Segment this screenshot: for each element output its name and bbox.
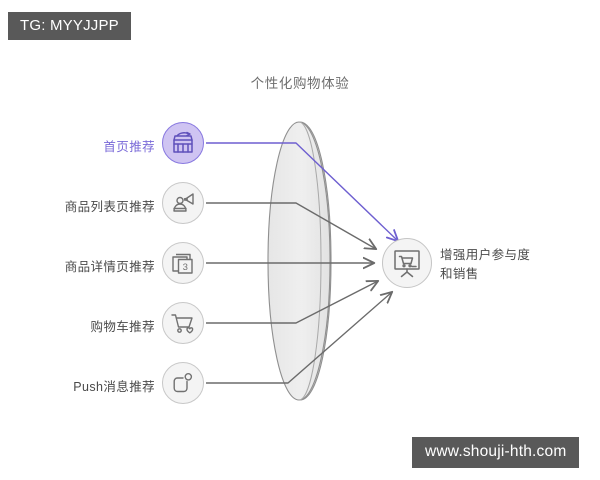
storefront-icon xyxy=(163,123,203,163)
source-node-4[interactable] xyxy=(162,302,204,344)
source-label-1: 首页推荐 xyxy=(55,136,155,155)
push-notification-icon xyxy=(163,363,203,403)
source-label-5: Push消息推荐 xyxy=(40,376,155,395)
card-stack-three-icon: 3 xyxy=(163,243,203,283)
site-watermark-badge: www.shouji-hth.com xyxy=(412,437,579,468)
bot-megaphone-icon xyxy=(163,183,203,223)
cylinder-shape xyxy=(268,122,331,400)
connector-layer xyxy=(0,0,600,480)
source-label-3: 商品详情页推荐 xyxy=(25,256,155,275)
diagram-canvas: TG: MYYJJPP 个性化购物体验 xyxy=(0,0,600,480)
target-label-line-1: 增强用户参与度 xyxy=(440,246,530,265)
source-node-5[interactable] xyxy=(162,362,204,404)
cart-heart-icon xyxy=(163,303,203,343)
presentation-cart-icon xyxy=(383,239,431,287)
target-node[interactable] xyxy=(382,238,432,288)
target-label: 增强用户参与度 和销售 xyxy=(440,246,530,284)
card-stack-badge-number: 3 xyxy=(183,262,188,273)
source-node-3[interactable]: 3 xyxy=(162,242,204,284)
target-label-line-2: 和销售 xyxy=(440,265,530,284)
source-label-4: 购物车推荐 xyxy=(45,316,155,335)
source-node-2[interactable] xyxy=(162,182,204,224)
source-label-2: 商品列表页推荐 xyxy=(25,196,155,215)
source-node-1[interactable] xyxy=(162,122,204,164)
